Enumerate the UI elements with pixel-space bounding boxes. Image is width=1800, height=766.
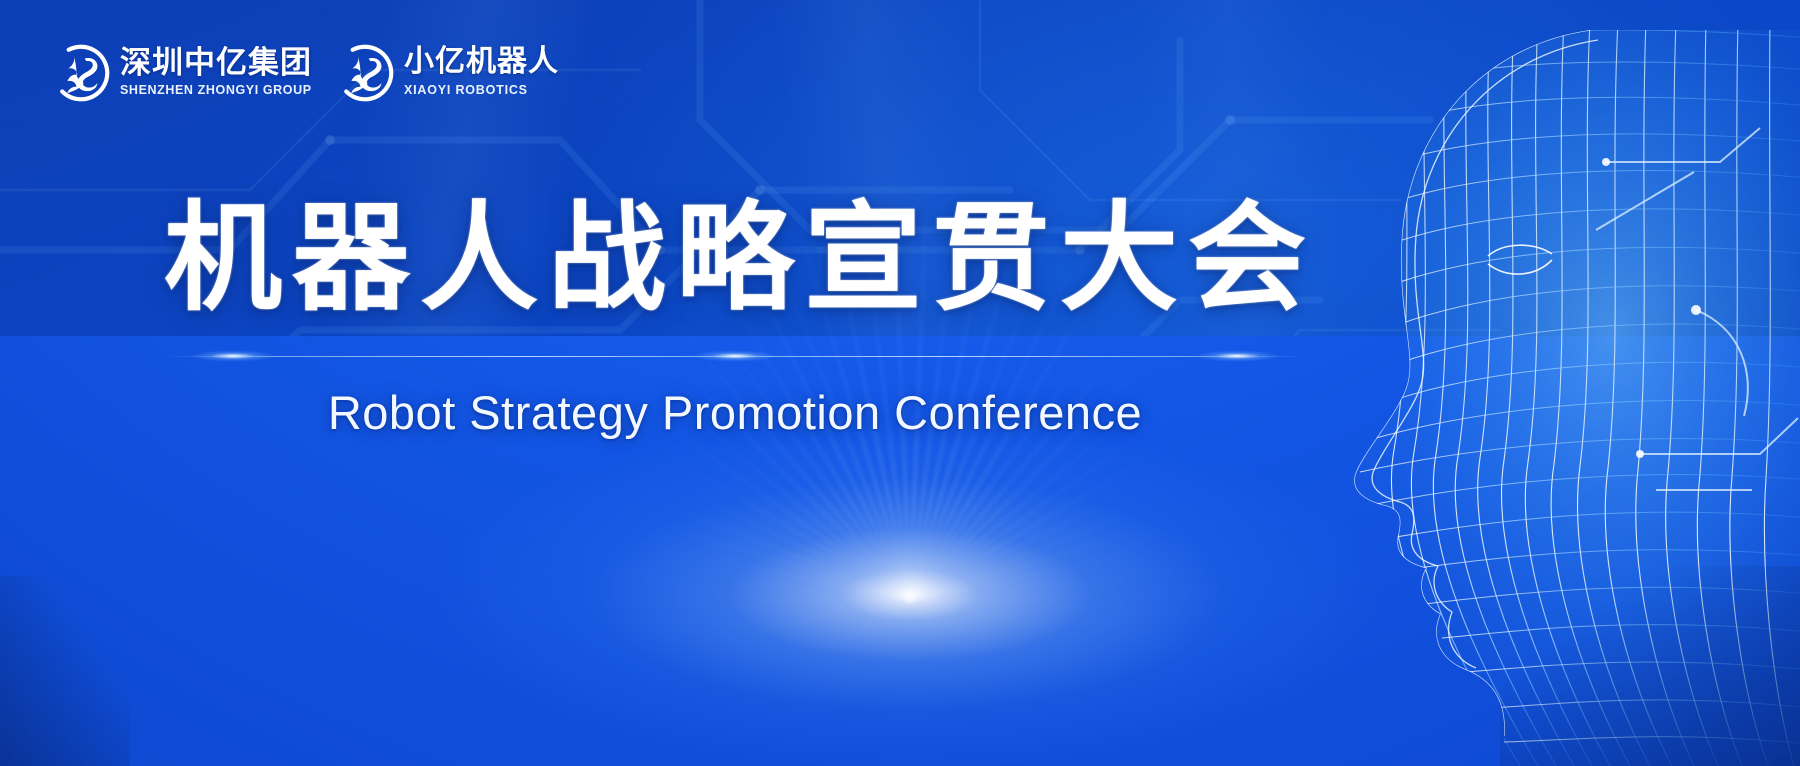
divider-spark [1177, 348, 1297, 364]
zhongyi-circular-emblem-icon [52, 44, 110, 102]
brand-logo-bar: 深圳中亿集团 SHENZHEN ZHONGYI GROUP 小亿机器人 XIAO… [52, 44, 559, 102]
page-title: 机器人战略宣贯大会 [154, 196, 1316, 321]
logo-text-group: 小亿机器人 XIAOYI ROBOTICS [404, 46, 559, 99]
xiaoyi-circular-emblem-icon [336, 44, 394, 102]
title-block: 机器人战略宣贯大会 Robot Strategy Promotion Confe… [0, 196, 1470, 440]
logo-name-cn: 深圳中亿集团 [120, 46, 312, 79]
logo-name-cn: 小亿机器人 [404, 46, 559, 78]
logo-text-group: 深圳中亿集团 SHENZHEN ZHONGYI GROUP [120, 46, 312, 100]
divider-spark [675, 348, 795, 364]
logo-xiaoyi-robotics[interactable]: 小亿机器人 XIAOYI ROBOTICS [336, 44, 559, 102]
page-subtitle: Robot Strategy Promotion Conference [328, 385, 1142, 440]
logo-name-en: XIAOYI ROBOTICS [404, 81, 559, 100]
poster-canvas: 深圳中亿集团 SHENZHEN ZHONGYI GROUP 小亿机器人 XIAO… [0, 0, 1800, 766]
logo-shenzhen-zhongyi-group[interactable]: 深圳中亿集团 SHENZHEN ZHONGYI GROUP [52, 44, 312, 102]
sparkle-divider-icon [165, 343, 1305, 369]
divider-spark [173, 348, 293, 364]
logo-name-en: SHENZHEN ZHONGYI GROUP [120, 81, 312, 100]
